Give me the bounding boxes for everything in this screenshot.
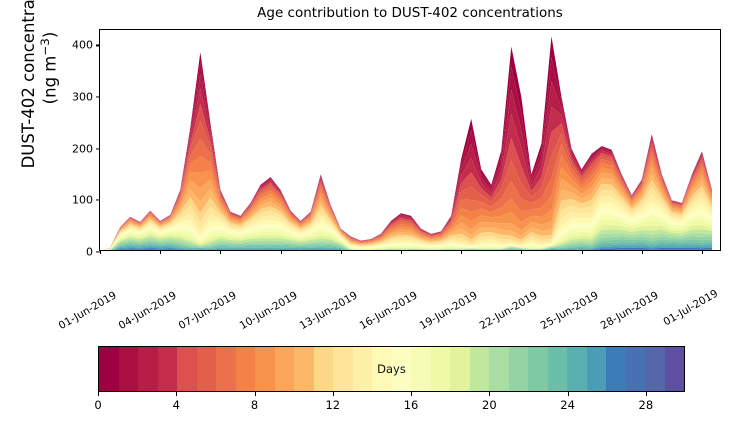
- colorbar-segment: [119, 347, 139, 391]
- colorbar-tick-label: 4: [173, 398, 180, 412]
- colorbar-segment: [314, 347, 334, 391]
- colorbar-tick-mark: [333, 392, 334, 396]
- stacked-area-series: [100, 30, 720, 250]
- colorbar-segment: [567, 347, 587, 391]
- x-tick-label-text: 01-Jun-2019: [57, 289, 119, 332]
- y-tick-label: 0: [86, 246, 100, 259]
- colorbar-tick-mark: [176, 392, 177, 396]
- colorbar-segment: [470, 347, 490, 391]
- colorbar-tick-label: 20: [482, 398, 497, 412]
- colorbar-segment: [665, 347, 685, 391]
- x-tick-mark: [100, 250, 101, 254]
- y-tick-label: 400: [72, 39, 100, 52]
- plot-area: 0100200300400 01-Jun-201904-Jun-201907-J…: [99, 29, 721, 251]
- colorbar-tick-mark: [255, 392, 256, 396]
- x-tick-mark: [341, 250, 342, 254]
- x-tick-mark: [642, 250, 643, 254]
- colorbar-segment: [392, 347, 412, 391]
- x-tick-mark: [582, 250, 583, 254]
- colorbar-segment: [489, 347, 509, 391]
- x-tick-mark: [160, 250, 161, 254]
- x-tick-mark: [281, 250, 282, 254]
- colorbar-tick-label: 16: [404, 398, 419, 412]
- colorbar-segment: [197, 347, 217, 391]
- colorbar-segment: [645, 347, 665, 391]
- colorbar-segment: [99, 347, 119, 391]
- chart-title: Age contribution to DUST-402 concentrati…: [99, 5, 721, 21]
- colorbar-tick-label: 8: [251, 398, 258, 412]
- x-tick-label-text: 10-Jun-2019: [237, 289, 299, 332]
- colorbar-segment: [509, 347, 529, 391]
- x-tick-label-text: 28-Jun-2019: [598, 289, 660, 332]
- colorbar-segment: [626, 347, 646, 391]
- colorbar-tick-label: 12: [325, 398, 340, 412]
- colorbar-segment: [177, 347, 197, 391]
- colorbar-segment: [158, 347, 178, 391]
- colorbar-tick-mark: [568, 392, 569, 396]
- x-tick-label-text: 07-Jun-2019: [177, 289, 239, 332]
- colorbar[interactable]: [98, 346, 685, 392]
- plot-clip: [100, 30, 720, 250]
- colorbar-segment: [411, 347, 431, 391]
- x-tick-mark: [401, 250, 402, 254]
- colorbar-segment: [294, 347, 314, 391]
- x-tick-mark: [521, 250, 522, 254]
- x-tick-label-text: 25-Jun-2019: [538, 289, 600, 332]
- colorbar-segment: [353, 347, 373, 391]
- colorbar-segment: [606, 347, 626, 391]
- y-axis-label: DUST-402 concentration (ng m−3): [20, 0, 60, 188]
- colorbar-tick-mark: [646, 392, 647, 396]
- y-axis-units-exponent: −3: [38, 38, 52, 56]
- y-tick-label: 200: [72, 142, 100, 155]
- colorbar-segment: [138, 347, 158, 391]
- colorbar-tick-mark: [489, 392, 490, 396]
- x-tick-label-text: 04-Jun-2019: [117, 289, 179, 332]
- x-tick-label-text: 19-Jun-2019: [418, 289, 480, 332]
- colorbar-tick-mark: [98, 392, 99, 396]
- x-tick-mark: [220, 250, 221, 254]
- x-tick-label-text: 22-Jun-2019: [478, 289, 540, 332]
- colorbar-segment: [333, 347, 353, 391]
- chart-figure: Age contribution to DUST-402 concentrati…: [0, 0, 730, 425]
- x-tick-mark: [702, 250, 703, 254]
- colorbar-segment: [372, 347, 392, 391]
- y-axis-units-suffix: ): [40, 32, 59, 38]
- colorbar-tick-label: 28: [639, 398, 654, 412]
- x-tick-label: 01-Jul-2019: [714, 257, 730, 298]
- y-axis-label-line2: (ng m−3): [39, 0, 60, 168]
- colorbar-segment: [528, 347, 548, 391]
- x-tick-mark: [461, 250, 462, 254]
- colorbar-tick-label: 0: [94, 398, 101, 412]
- colorbar-segment: [587, 347, 607, 391]
- colorbar-segment: [275, 347, 295, 391]
- y-axis-units-prefix: (ng m: [40, 56, 59, 105]
- colorbar-segment: [255, 347, 275, 391]
- x-tick-label-text: 13-Jun-2019: [297, 289, 359, 332]
- colorbar-tick-label: 24: [560, 398, 575, 412]
- y-tick-label: 100: [72, 194, 100, 207]
- x-tick-label-text: 16-Jun-2019: [358, 289, 420, 332]
- colorbar-segment: [431, 347, 451, 391]
- colorbar-segment: [236, 347, 256, 391]
- colorbar-segment: [548, 347, 568, 391]
- colorbar-tick-mark: [411, 392, 412, 396]
- colorbar-segment: [216, 347, 236, 391]
- y-axis-label-line1: DUST-402 concentration: [20, 0, 38, 168]
- colorbar-segment: [450, 347, 470, 391]
- y-tick-label: 300: [72, 91, 100, 104]
